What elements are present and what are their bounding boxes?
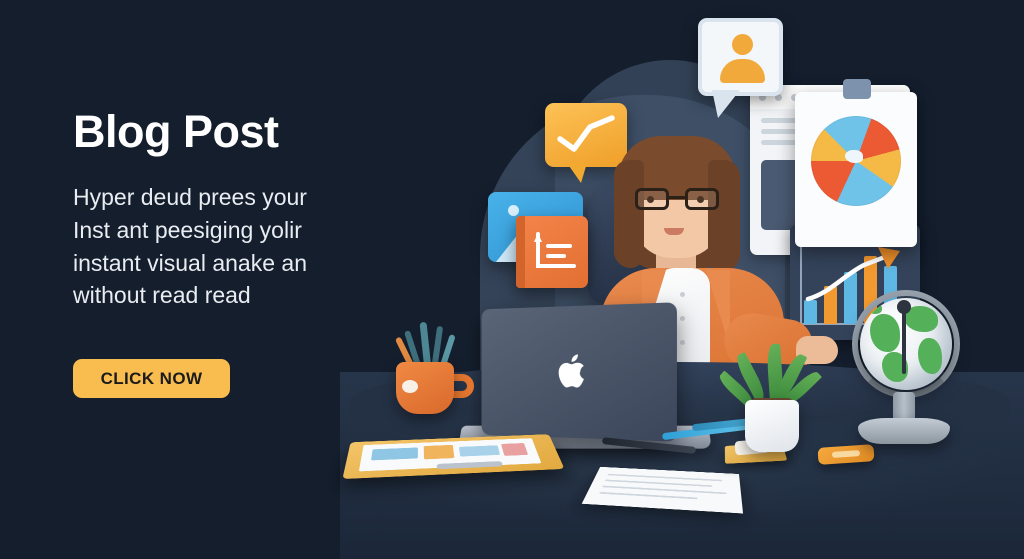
sun-icon — [508, 205, 519, 216]
report-book — [516, 216, 588, 288]
blog-post-banner: Blog Post Hyper deud prees your Inst ant… — [0, 0, 1024, 559]
macbook-laptop — [482, 302, 677, 441]
chart-y-axis — [800, 247, 802, 325]
potted-plant — [745, 400, 799, 452]
globe-axis — [902, 306, 906, 374]
globe-pie-document — [795, 92, 917, 247]
mouth — [664, 228, 684, 235]
apple-logo-icon — [559, 354, 588, 388]
user-avatar-body — [720, 59, 765, 83]
globe-base — [858, 418, 950, 444]
mug-face-decal — [402, 380, 418, 393]
glasses-icon — [633, 188, 721, 210]
hero-illustration — [340, 0, 1024, 559]
user-avatar-icon — [732, 34, 753, 55]
globe-knob — [897, 300, 911, 314]
document-tab — [843, 79, 871, 99]
click-now-button[interactable]: CLICK NOW — [73, 359, 230, 398]
pie-chart-icon — [811, 116, 901, 206]
hair-side-left — [614, 160, 644, 268]
bar-chart-icon — [532, 230, 576, 274]
hair-side-right — [708, 160, 740, 272]
avatar-speech-bubble — [698, 18, 783, 96]
